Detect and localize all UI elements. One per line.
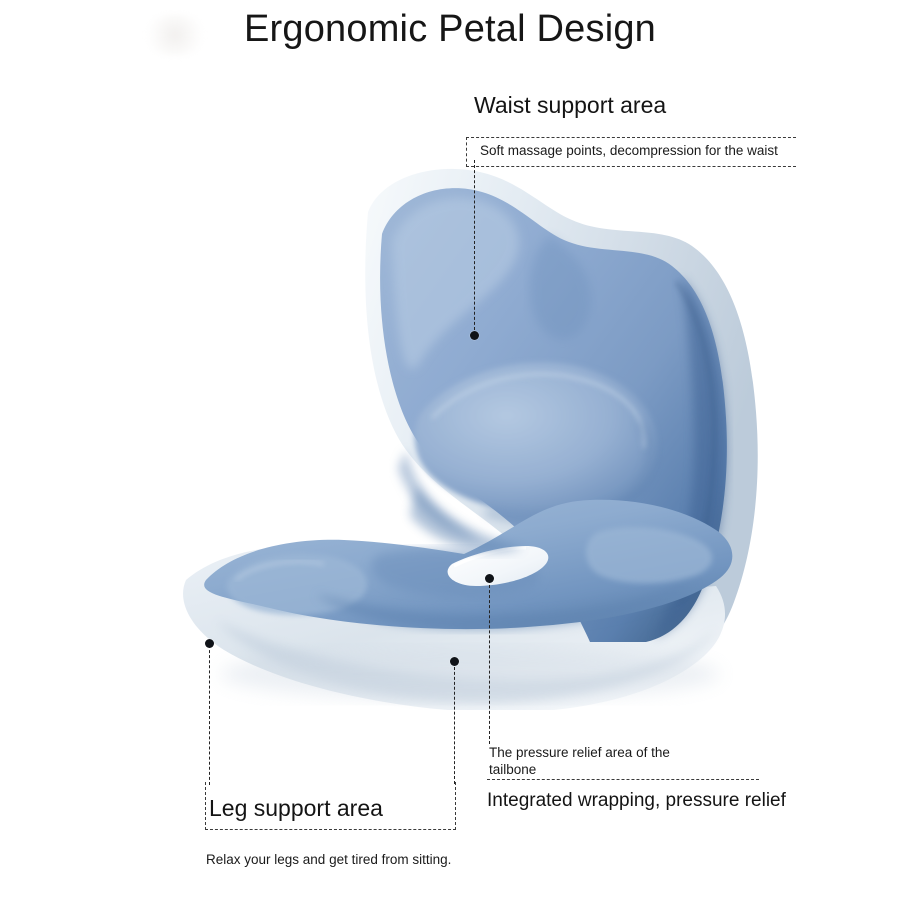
leg-support-marker-dot <box>205 639 214 648</box>
leg-support-heading: Leg support area <box>209 795 383 822</box>
seat-edge-marker-dot <box>450 657 459 666</box>
leg-support-caption: Relax your legs and get tired from sitti… <box>206 852 451 867</box>
leg-leader-line <box>209 645 210 785</box>
seat-edge-leader-line <box>454 662 455 784</box>
tailbone-marker-dot <box>485 574 494 583</box>
waist-support-marker-dot <box>470 331 479 340</box>
seat-cushion-illustration <box>120 150 800 710</box>
waist-leader-line <box>474 160 475 335</box>
integrated-divider-line <box>487 779 759 782</box>
integrated-wrapping-heading: Integrated wrapping, pressure relief <box>487 790 786 812</box>
page-title: Ergonomic Petal Design <box>0 8 900 51</box>
waist-support-caption: Soft massage points, decompression for t… <box>480 143 778 158</box>
waist-support-heading: Waist support area <box>474 92 666 119</box>
tailbone-leader-line <box>489 580 490 744</box>
tailbone-caption: The pressure relief area of the tailbone <box>489 744 699 778</box>
infographic-page: Ergonomic Petal Design <box>0 0 900 900</box>
